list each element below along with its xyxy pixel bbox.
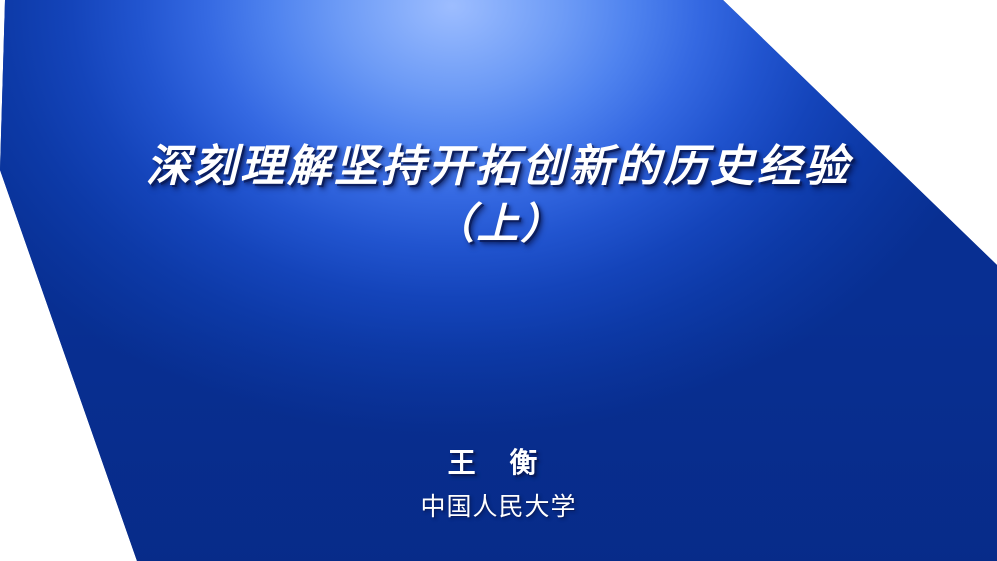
title-line-main: 深刻理解坚持开拓创新的历史经验 — [0, 138, 997, 196]
slide-title: 深刻理解坚持开拓创新的历史经验 （上） — [0, 138, 997, 252]
title-slide: 深刻理解坚持开拓创新的历史经验 （上） 王 衡 中国人民大学 — [0, 0, 997, 561]
title-line-part-indicator: （上） — [0, 196, 997, 252]
slide-content: 深刻理解坚持开拓创新的历史经验 （上） 王 衡 中国人民大学 — [0, 0, 997, 561]
author-name: 王 衡 — [0, 443, 997, 483]
author-affiliation: 中国人民大学 — [0, 489, 997, 525]
author-block: 王 衡 中国人民大学 — [0, 443, 997, 525]
